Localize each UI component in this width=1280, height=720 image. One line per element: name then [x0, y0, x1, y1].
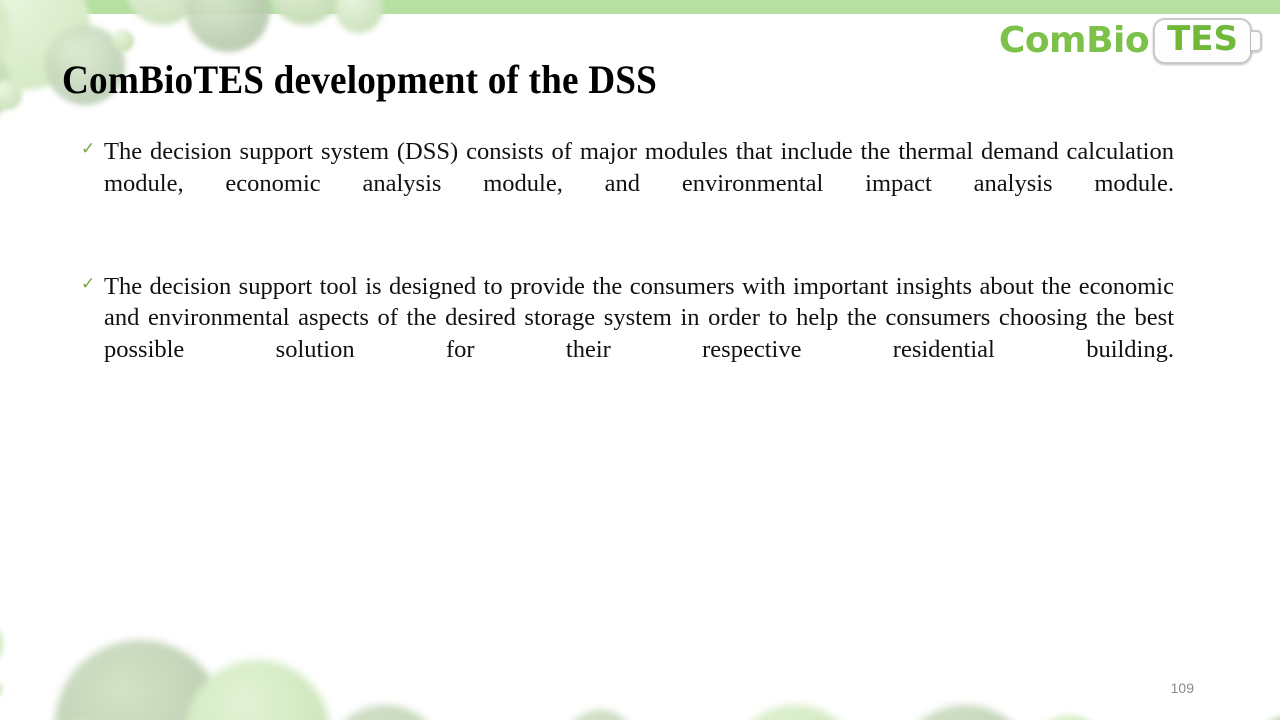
bubble — [565, 710, 635, 720]
logo-wordmark-text: ComBio — [999, 23, 1149, 59]
bubble — [112, 30, 134, 52]
top-accent-bar — [0, 0, 1280, 14]
list-item: ✓ The decision support tool is designed … — [80, 271, 1180, 397]
decorative-bubbles-bottom-right — [600, 610, 1280, 720]
bubble — [185, 660, 330, 720]
bubble — [325, 705, 445, 720]
logo-battery-text: TES — [1167, 22, 1238, 58]
bubble — [0, 620, 3, 668]
check-icon: ✓ — [81, 274, 99, 294]
page-title: ComBioTES development of the DSS — [62, 56, 657, 104]
battery-terminal — [1251, 30, 1262, 52]
bubble — [0, 40, 10, 130]
bubble — [0, 80, 22, 110]
list-item: ✓ The decision support system (DSS) cons… — [80, 136, 1180, 231]
bubble — [1260, 715, 1280, 720]
decorative-bubbles-bottom-left — [0, 610, 670, 720]
check-icon: ✓ — [81, 139, 99, 159]
list-item-text: The decision support system (DSS) consis… — [104, 136, 1174, 231]
slide: ComBio TES ComBioTES development of the … — [0, 0, 1280, 720]
bubble — [730, 705, 860, 720]
list-item-text: The decision support tool is designed to… — [104, 271, 1174, 397]
bullet-list: ✓ The decision support system (DSS) cons… — [80, 136, 1180, 397]
bubble — [55, 640, 225, 720]
bubble — [1030, 715, 1108, 720]
bubble — [0, 680, 2, 698]
page-number: 109 — [1171, 680, 1194, 696]
battery-icon: TES — [1153, 18, 1262, 64]
battery-body: TES — [1153, 18, 1252, 64]
bubble — [895, 705, 1035, 720]
combiotes-logo: ComBio TES — [999, 16, 1262, 66]
